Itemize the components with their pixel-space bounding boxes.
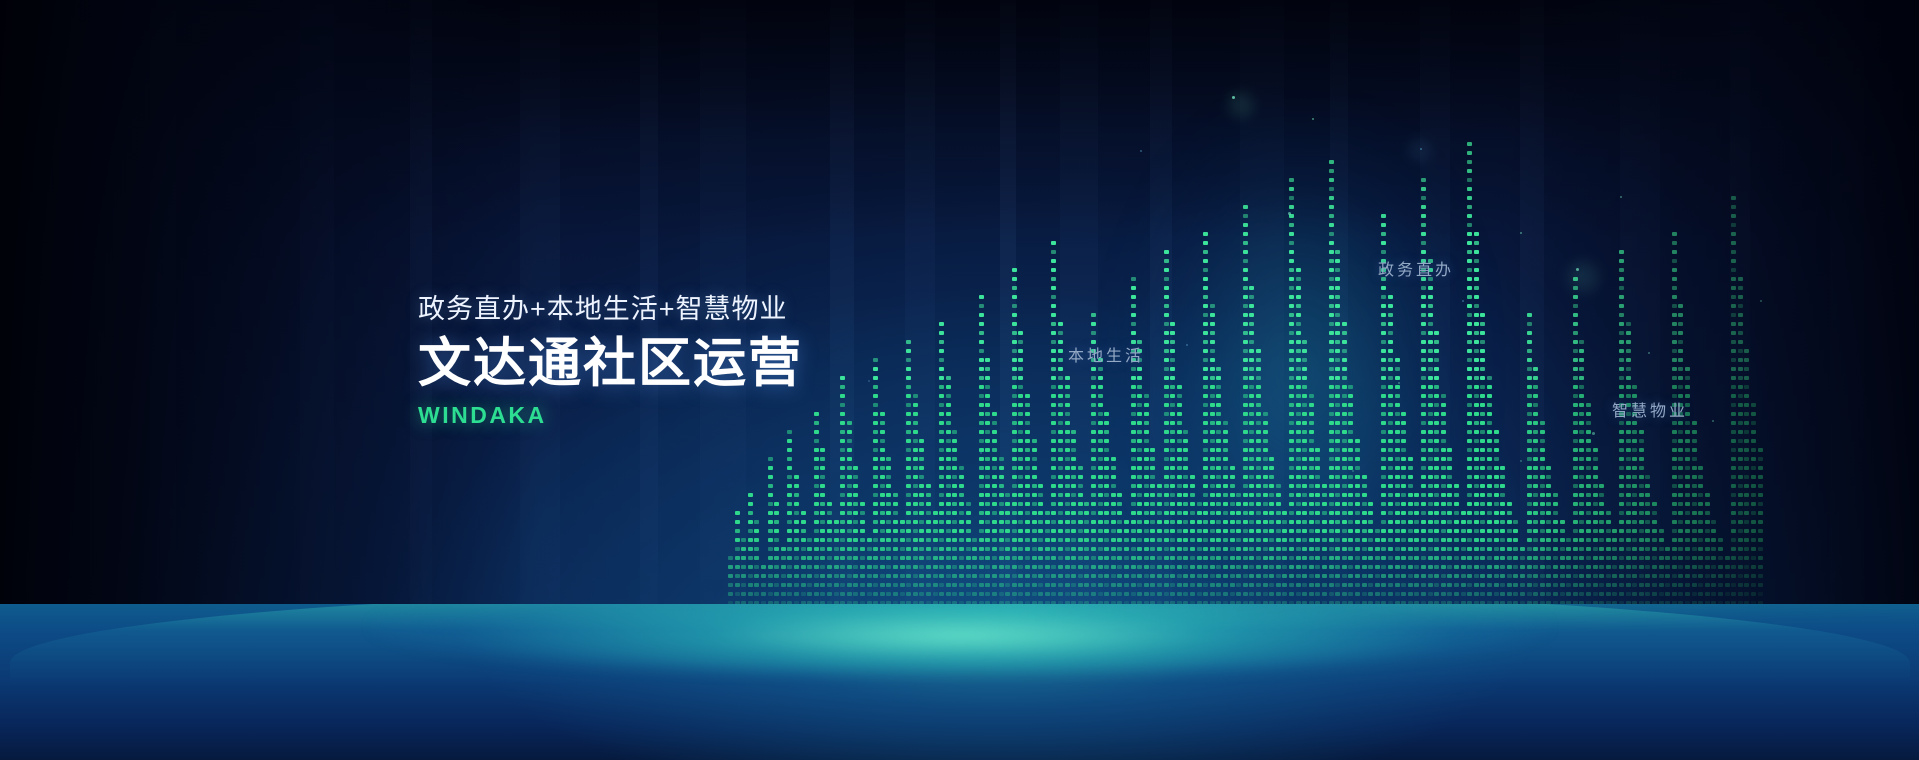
floating-label-1: 政务直办	[1378, 256, 1454, 280]
headline-block: 政务直办+本地生活+智慧物业 文达通社区运营 WINDAKA	[418, 296, 803, 427]
perspective-ground	[0, 604, 1919, 760]
banner-subtitle: 政务直办+本地生活+智慧物业	[418, 296, 803, 323]
floating-label-3: 智慧物业	[1612, 397, 1688, 421]
floating-label-2: 本地生活	[1068, 342, 1144, 366]
hero-banner: 政务直办+本地生活+智慧物业 文达通社区运营 WINDAKA 政务直办本地生活智…	[0, 0, 1919, 760]
brand-wordmark: WINDAKA	[418, 404, 803, 427]
banner-headline: 文达通社区运营	[418, 337, 803, 390]
